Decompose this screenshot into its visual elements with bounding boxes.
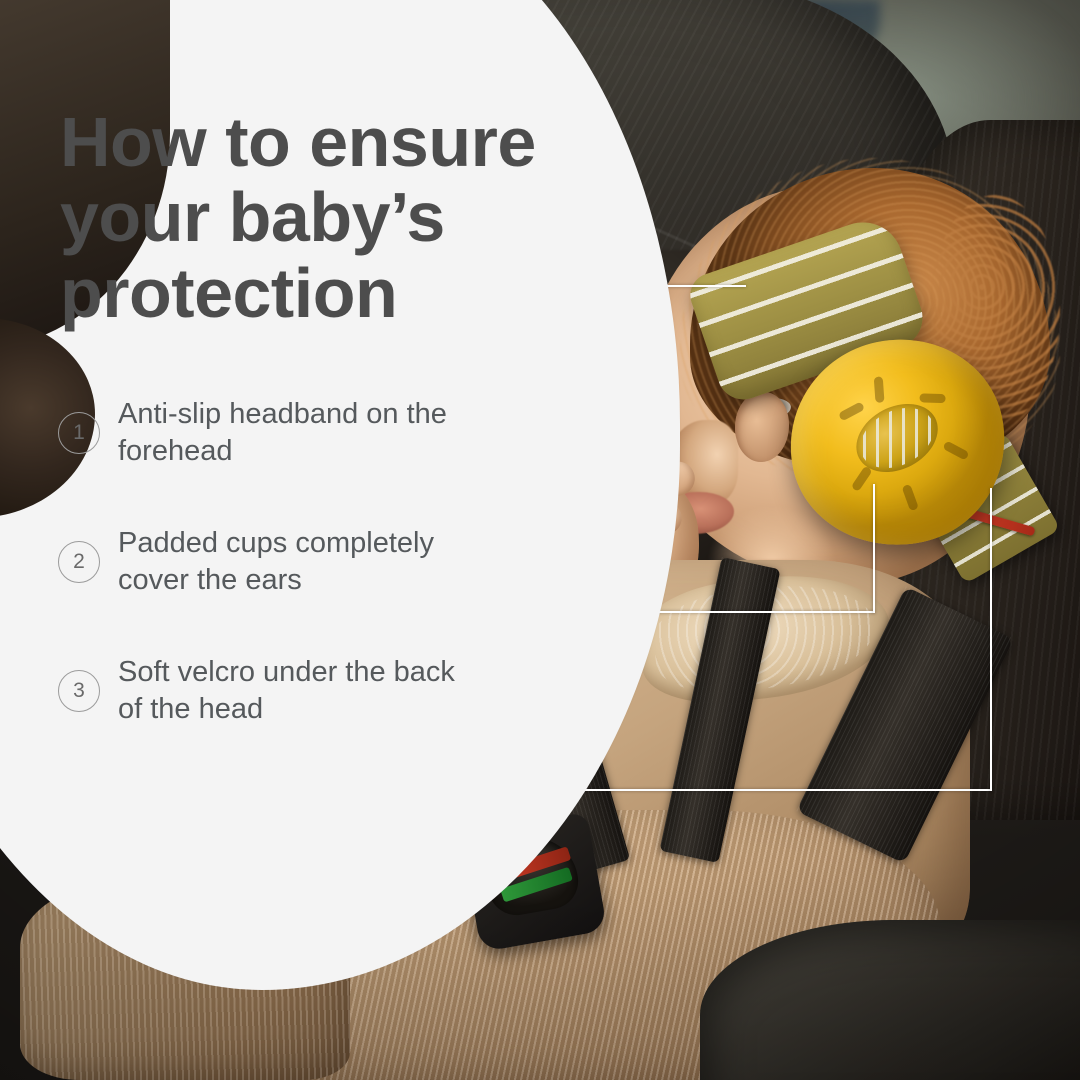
feature-item-2: 2 Padded cups completely cover the ears: [58, 525, 458, 598]
feature-text-2: Padded cups completely cover the ears: [118, 525, 458, 598]
feature-list: 1 Anti-slip headband on the forehead 2 P…: [58, 396, 458, 783]
ear-cup-ray: [874, 376, 885, 403]
ear-cup-ray: [902, 484, 919, 512]
feature-item-3: 3 Soft velcro under the back of the head: [58, 654, 458, 727]
ear-cup-ray: [919, 393, 945, 403]
feature-marker-3: 3: [58, 670, 100, 712]
feature-text-3: Soft velcro under the back of the head: [118, 654, 458, 727]
ear-cup-ray: [942, 440, 969, 460]
callout-3-leader-vertical: [990, 488, 992, 791]
feature-text-1: Anti-slip headband on the forehead: [118, 396, 458, 469]
feature-item-1: 1 Anti-slip headband on the forehead: [58, 396, 458, 469]
infographic-canvas: 1 2 3 How to ensure your baby’s protecti…: [0, 0, 1080, 1080]
ear-cup-ray: [851, 465, 873, 492]
feature-marker-1: 1: [58, 412, 100, 454]
page-title: How to ensure your baby’s protection: [60, 105, 620, 332]
ear-cup-ray: [838, 401, 865, 421]
feature-marker-2: 2: [58, 541, 100, 583]
callout-2-leader-vertical: [873, 484, 875, 613]
